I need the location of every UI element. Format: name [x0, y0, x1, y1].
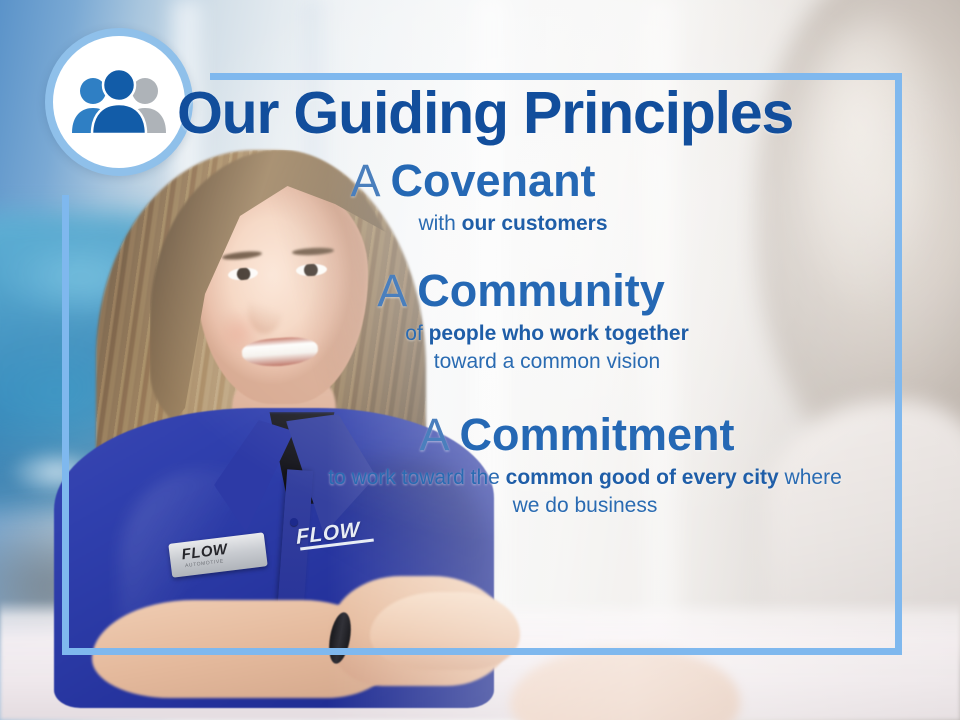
principle-commitment-lead: A	[419, 409, 447, 460]
guiding-principles-poster: FLOW AUTOMOTIVE FLOW	[0, 0, 960, 720]
principle-commitment-sub-bold: common good of every city	[506, 466, 779, 489]
principle-covenant-title: A Covenant	[78, 157, 868, 206]
principle-community-title: A Community	[126, 267, 916, 316]
principle-commitment-sub-line2: we do business	[513, 494, 658, 517]
principle-community-sub-line2: toward a common vision	[434, 350, 660, 373]
associate-clasped-hands	[370, 592, 520, 670]
poster-text-column: Our Guiding Principles A Covenant with o…	[90, 84, 880, 523]
principle-community-keyword: Community	[417, 265, 665, 316]
principle-covenant: A Covenant with our customers	[78, 157, 868, 237]
principle-covenant-sub-pre: with	[418, 212, 461, 235]
principle-covenant-subtext: with our customers	[118, 210, 908, 238]
principle-commitment-sub-post: where	[779, 466, 842, 489]
principle-commitment-sub-pre: to work toward the	[328, 466, 505, 489]
principle-commitment: A Commitment to work toward the common g…	[182, 411, 960, 519]
principle-commitment-keyword: Commitment	[460, 409, 735, 460]
principle-commitment-subtext: to work toward the common good of every …	[190, 464, 960, 519]
page-title: Our Guiding Principles	[90, 84, 880, 143]
principle-covenant-keyword: Covenant	[391, 155, 596, 206]
principle-covenant-sub-bold: our customers	[462, 212, 608, 235]
principle-commitment-title: A Commitment	[182, 411, 960, 460]
principle-community-lead: A	[377, 265, 405, 316]
principle-community: A Community of people who work together …	[126, 267, 916, 375]
principle-community-subtext: of people who work together toward a com…	[152, 320, 942, 375]
principle-covenant-lead: A	[350, 155, 378, 206]
principle-community-sub-bold: people who work together	[429, 322, 689, 345]
principle-community-sub-pre: of	[405, 322, 428, 345]
